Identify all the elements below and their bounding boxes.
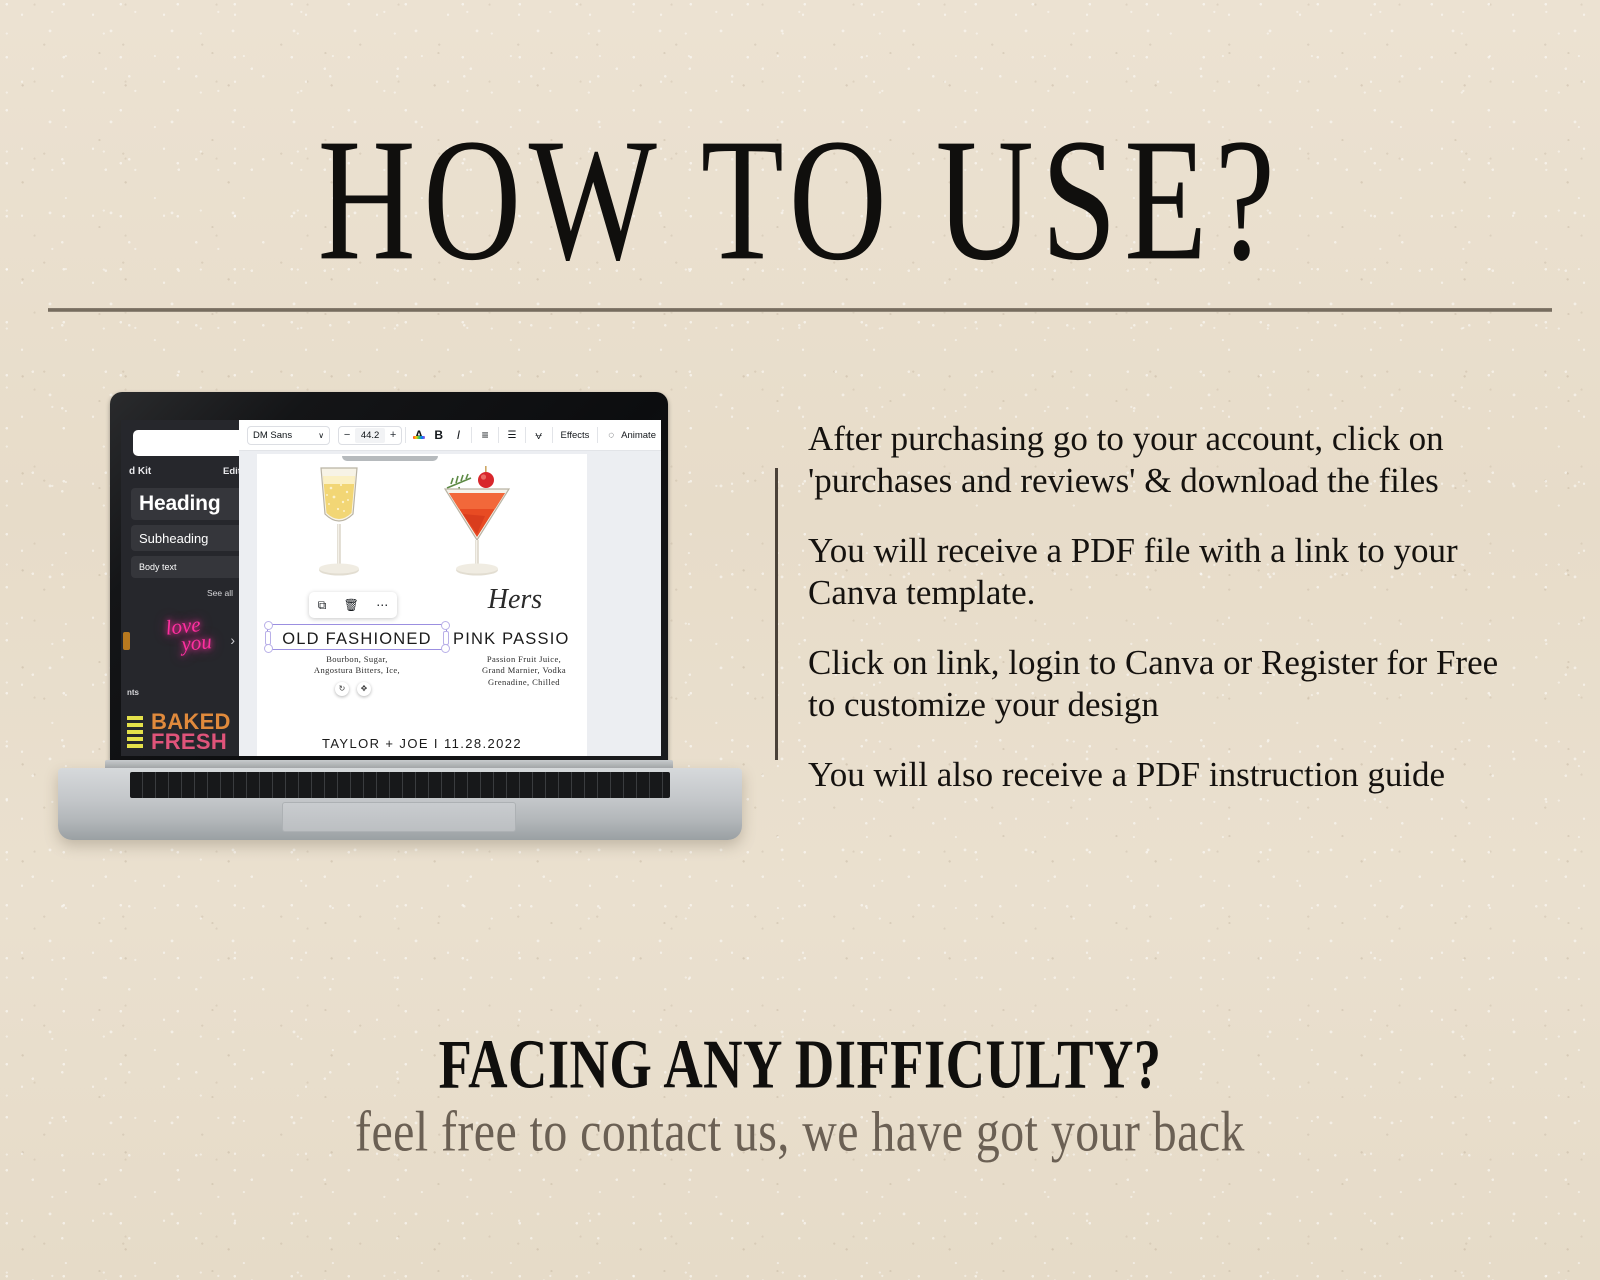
resize-handle-top-left[interactable] bbox=[264, 621, 273, 630]
pink-cocktail-illustration[interactable] bbox=[433, 462, 519, 588]
drink-left-title[interactable]: OLD FASHIONED bbox=[273, 630, 441, 649]
italic-icon[interactable]: I bbox=[449, 428, 469, 442]
laptop-trackpad bbox=[282, 802, 516, 832]
font-size-stepper[interactable]: − 44.2 + bbox=[338, 426, 402, 445]
sidebar-neon-love-you-graphic[interactable]: love you bbox=[165, 612, 239, 665]
sidebar-style-body-text[interactable]: Body text bbox=[131, 556, 251, 578]
text-color-icon[interactable]: A bbox=[409, 428, 429, 442]
sidebar-stripe-graphic bbox=[127, 716, 143, 750]
title-divider-rule bbox=[48, 308, 1552, 312]
footer-subtitle: feel free to contact us, we have got you… bbox=[64, 1100, 1536, 1165]
sidebar-style-subheading[interactable]: Subheading bbox=[131, 525, 251, 551]
sidebar-search-input[interactable] bbox=[133, 430, 251, 456]
toolbar-separator bbox=[525, 427, 526, 443]
resize-handle-middle-right[interactable] bbox=[443, 631, 449, 645]
toolbar-separator bbox=[597, 427, 598, 443]
canva-sidebar: d Kit Edit Heading Subheading Body text … bbox=[121, 420, 239, 756]
ingredients-line-2: Angostura Bitters, Ice, bbox=[273, 665, 441, 676]
font-family-dropdown[interactable]: DM Sans ∨ bbox=[247, 426, 330, 445]
chevron-down-icon: ∨ bbox=[318, 431, 324, 440]
laptop-base bbox=[58, 768, 742, 840]
ingredients-line-2: Grand Marnier, Vodka bbox=[449, 665, 599, 676]
laptop-screen: d Kit Edit Heading Subheading Body text … bbox=[121, 420, 661, 756]
couple-names-date[interactable]: TAYLOR + JOE I 11.28.2022 bbox=[257, 736, 587, 751]
logo-line-2: FRESH bbox=[151, 732, 241, 752]
laptop-keyboard bbox=[130, 772, 670, 798]
sidebar-brand-kit-row: d Kit Edit bbox=[129, 466, 241, 482]
sidebar-see-all-link[interactable]: See all bbox=[207, 588, 233, 598]
delete-icon[interactable]: 🗑 bbox=[344, 598, 359, 613]
instruction-step: You will receive a PDF file with a link … bbox=[808, 530, 1520, 614]
animate-icon[interactable]: ◌ bbox=[601, 430, 621, 441]
resize-handle-bottom-left[interactable] bbox=[264, 644, 273, 653]
chevron-right-icon[interactable]: › bbox=[230, 632, 235, 648]
rotate-handle[interactable]: ↻ bbox=[335, 682, 349, 696]
sidebar-color-swatch[interactable] bbox=[123, 632, 130, 650]
vertical-divider bbox=[775, 468, 778, 760]
sidebar-baked-fresh-logo[interactable]: BAKED FRESH bbox=[151, 712, 241, 752]
font-family-value: DM Sans bbox=[253, 430, 292, 441]
line-spacing-icon[interactable]: ⩝ bbox=[529, 428, 549, 443]
resize-handle-top-right[interactable] bbox=[441, 621, 450, 630]
laptop-mockup: d Kit Edit Heading Subheading Body text … bbox=[50, 392, 750, 852]
instruction-step: Click on link, login to Canva or Registe… bbox=[808, 642, 1520, 726]
footer-title: FACING ANY DIFFICULTY? bbox=[96, 1026, 1504, 1106]
instruction-step: You will also receive a PDF instruction … bbox=[808, 754, 1520, 796]
instruction-step: After purchasing go to your account, cli… bbox=[808, 418, 1520, 502]
effects-button[interactable]: Effects bbox=[556, 430, 595, 441]
sidebar-section-label: nts bbox=[127, 688, 139, 697]
toolbar-separator bbox=[552, 427, 553, 443]
champagne-glass-illustration[interactable] bbox=[303, 462, 375, 588]
ingredients-line-3: Grenadine, Chilled bbox=[449, 677, 599, 688]
font-size-decrease-button[interactable]: − bbox=[339, 429, 355, 441]
toolbar-separator bbox=[405, 427, 406, 443]
canva-design-page[interactable]: ⧉ 🗑 ⋯ OLD FASHIONED Bourbon, Sugar, Ang bbox=[257, 454, 587, 756]
laptop-front-notch bbox=[342, 456, 438, 461]
instruction-steps-list: After purchasing go to your account, cli… bbox=[808, 418, 1520, 824]
text-align-icon[interactable]: ≡ bbox=[475, 428, 495, 442]
resize-handle-bottom-right[interactable] bbox=[441, 644, 450, 653]
duplicate-icon[interactable]: ⧉ bbox=[318, 598, 327, 613]
font-size-increase-button[interactable]: + bbox=[385, 429, 401, 441]
drink-left-ingredients[interactable]: Bourbon, Sugar, Angostura Bitters, Ice, bbox=[273, 654, 441, 677]
drink-right-ingredients[interactable]: Passion Fruit Juice, Grand Marnier, Vodk… bbox=[449, 654, 599, 688]
more-options-icon[interactable]: ⋯ bbox=[376, 598, 388, 613]
drink-right-script-label[interactable]: Hers bbox=[455, 584, 575, 616]
canva-text-toolbar: DM Sans ∨ − 44.2 + A B I ≡ ☰ ⩝ E bbox=[239, 420, 661, 451]
sidebar-brand-kit-label: d Kit bbox=[129, 466, 151, 477]
bold-icon[interactable]: B bbox=[429, 428, 449, 442]
canva-workspace: DM Sans ∨ − 44.2 + A B I ≡ ☰ ⩝ E bbox=[239, 420, 661, 756]
resize-handle-middle-left[interactable] bbox=[265, 631, 271, 645]
page-title: HOW TO USE? bbox=[56, 112, 1544, 287]
element-context-menu[interactable]: ⧉ 🗑 ⋯ bbox=[309, 592, 397, 618]
animate-button[interactable]: Animate bbox=[621, 430, 661, 441]
ingredients-line-1: Passion Fruit Juice, bbox=[449, 654, 599, 665]
drink-right-title[interactable]: PINK PASSIO bbox=[453, 630, 603, 649]
move-handle[interactable]: ✥ bbox=[357, 682, 371, 696]
sidebar-style-heading[interactable]: Heading bbox=[131, 488, 251, 520]
toolbar-separator bbox=[498, 427, 499, 443]
font-size-value[interactable]: 44.2 bbox=[355, 428, 385, 443]
ingredients-line-1: Bourbon, Sugar, bbox=[273, 654, 441, 665]
toolbar-separator bbox=[471, 427, 472, 443]
bullet-list-icon[interactable]: ☰ bbox=[502, 430, 522, 441]
